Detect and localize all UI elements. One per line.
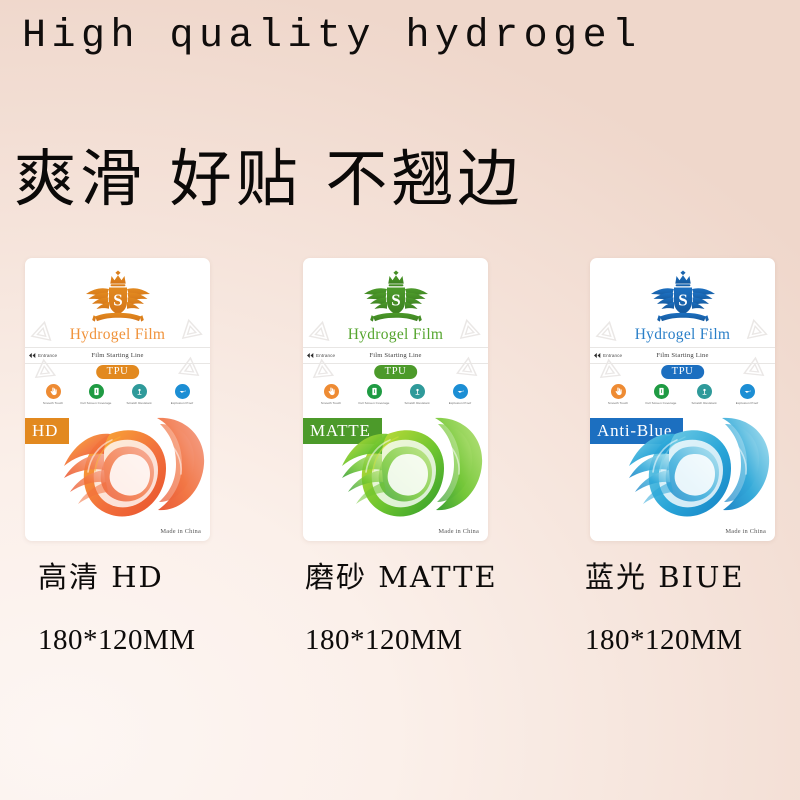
caption-product-name: 蓝光 BIUE	[585, 560, 745, 595]
poster-canvas: High quality hydrogel 爽滑 好贴 不翘边 ⟁ ⟁ ⟁ ⟁	[0, 0, 800, 800]
product-row: ⟁ ⟁ ⟁ ⟁	[0, 258, 800, 543]
film-starting-strip: Entrance Film Starting Line	[303, 347, 488, 364]
made-in-label: Made in China	[725, 528, 766, 535]
scratch-resistant-icon	[132, 384, 147, 399]
film-starting-strip: Entrance Film Starting Line	[25, 347, 210, 364]
film-starting-strip: Entrance Film Starting Line	[590, 347, 775, 364]
ribbon-swirl-artwork	[619, 400, 775, 535]
package-card: ⟁ ⟁ ⟁ ⟁	[303, 258, 488, 541]
hand-touch-icon	[324, 384, 339, 399]
swirl-artwork	[54, 400, 210, 535]
product-package-hd[interactable]: ⟁ ⟁ ⟁ ⟁	[25, 258, 210, 541]
product-caption-1: 磨砂 MATTE 180*120MM	[305, 560, 498, 658]
product-caption-2: 蓝光 BIUE 180*120MM	[585, 560, 745, 658]
screen-coverage-icon	[654, 384, 669, 399]
product-package-matte[interactable]: ⟁ ⟁ ⟁ ⟁	[303, 258, 488, 541]
svg-text:S: S	[113, 291, 122, 310]
caption-product-size: 180*120MM	[305, 623, 498, 658]
brand-name: Hydrogel Film	[25, 326, 210, 344]
explosion-proof-icon	[175, 384, 190, 399]
screen-coverage-icon	[367, 384, 382, 399]
package-card: ⟁ ⟁ ⟁ ⟁	[590, 258, 775, 541]
brand-emblem: S	[25, 266, 210, 328]
brand-emblem: S	[590, 266, 775, 328]
crown-shield-wings-emblem: S	[353, 267, 439, 327]
made-in-label: Made in China	[160, 528, 201, 535]
caption-product-size: 180*120MM	[38, 623, 196, 658]
product-caption-0: 高清 HD 180*120MM	[38, 560, 196, 658]
brand-name: Hydrogel Film	[590, 326, 775, 344]
caption-product-name: 高清 HD	[38, 560, 196, 595]
package-card: ⟁ ⟁ ⟁ ⟁	[25, 258, 210, 541]
ribbon-swirl-artwork	[54, 400, 210, 535]
explosion-proof-icon	[453, 384, 468, 399]
swirl-artwork	[619, 400, 775, 535]
caption-product-name: 磨砂 MATTE	[305, 560, 498, 595]
starting-line-label: Film Starting Line	[25, 352, 210, 359]
swirl-artwork	[332, 400, 488, 535]
hand-touch-icon	[46, 384, 61, 399]
explosion-proof-icon	[740, 384, 755, 399]
scratch-resistant-icon	[410, 384, 425, 399]
headline-english: High quality hydrogel	[22, 14, 642, 59]
svg-text:S: S	[678, 291, 687, 310]
crown-shield-wings-emblem: S	[640, 267, 726, 327]
screen-coverage-icon	[89, 384, 104, 399]
hand-touch-icon	[611, 384, 626, 399]
material-badge-tpu: TPU	[374, 365, 418, 379]
brand-emblem: S	[303, 266, 488, 328]
svg-text:S: S	[391, 291, 400, 310]
material-badge-tpu: TPU	[661, 365, 705, 379]
ribbon-swirl-artwork	[332, 400, 488, 535]
starting-line-label: Film Starting Line	[590, 352, 775, 359]
product-package-anti-blue[interactable]: ⟁ ⟁ ⟁ ⟁	[590, 258, 775, 541]
headline-chinese: 爽滑 好贴 不翘边	[14, 128, 523, 218]
crown-shield-wings-emblem: S	[75, 267, 161, 327]
brand-name: Hydrogel Film	[303, 326, 488, 344]
made-in-label: Made in China	[438, 528, 479, 535]
caption-product-size: 180*120MM	[585, 623, 745, 658]
scratch-resistant-icon	[697, 384, 712, 399]
material-badge-tpu: TPU	[96, 365, 140, 379]
starting-line-label: Film Starting Line	[303, 352, 488, 359]
